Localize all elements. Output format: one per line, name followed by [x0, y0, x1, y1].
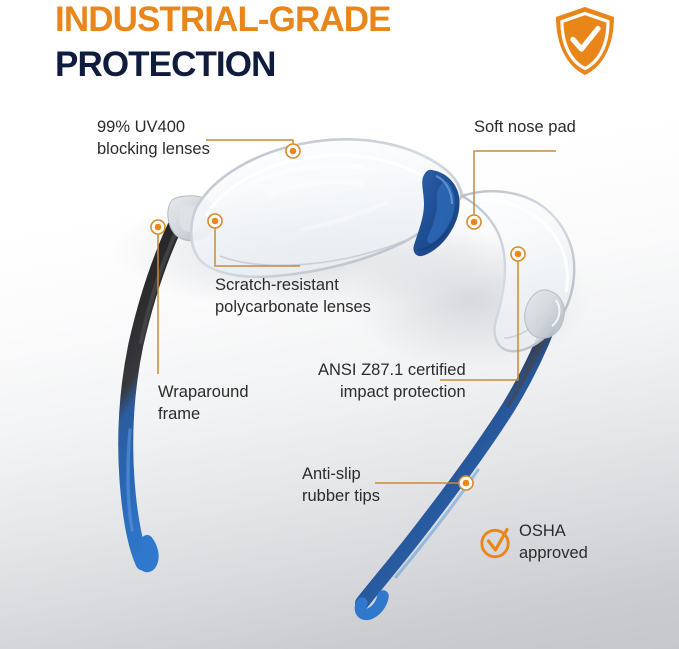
callout-ansi-line2: impact protection	[318, 382, 466, 404]
callout-uv400-line1: 99% UV400	[97, 117, 210, 139]
product-infographic: INDUSTRIAL-GRADE PROTECTION	[0, 0, 679, 649]
callout-wraparound-line1: Wraparound	[158, 382, 249, 404]
callout-ansi-line1: ANSI Z87.1 certified	[318, 360, 466, 382]
callout-label-scratch-resistant: Scratch-resistant polycarbonate lenses	[215, 275, 371, 319]
callout-wraparound-line2: frame	[158, 404, 249, 426]
osha-badge-text: OSHA approved	[519, 521, 588, 565]
osha-line2: approved	[519, 543, 588, 565]
callout-scratch-line1: Scratch-resistant	[215, 275, 371, 297]
callout-uv400-line2: blocking lenses	[97, 139, 210, 161]
callout-nose-pad-line1: Soft nose pad	[474, 117, 576, 139]
callout-scratch-line2: polycarbonate lenses	[215, 297, 371, 319]
callout-label-uv400: 99% UV400 blocking lenses	[97, 117, 210, 161]
callout-label-ansi: ANSI Z87.1 certified impact protection	[318, 360, 466, 404]
callout-antislip-line2: rubber tips	[302, 486, 380, 508]
callout-label-wraparound: Wraparound frame	[158, 382, 249, 426]
circle-check-icon	[478, 524, 514, 560]
osha-line1: OSHA	[519, 521, 588, 543]
callout-antislip-line1: Anti-slip	[302, 464, 380, 486]
callout-label-anti-slip: Anti-slip rubber tips	[302, 464, 380, 508]
osha-approved-badge: OSHA approved	[478, 521, 613, 569]
callout-label-nose-pad: Soft nose pad	[474, 117, 576, 139]
